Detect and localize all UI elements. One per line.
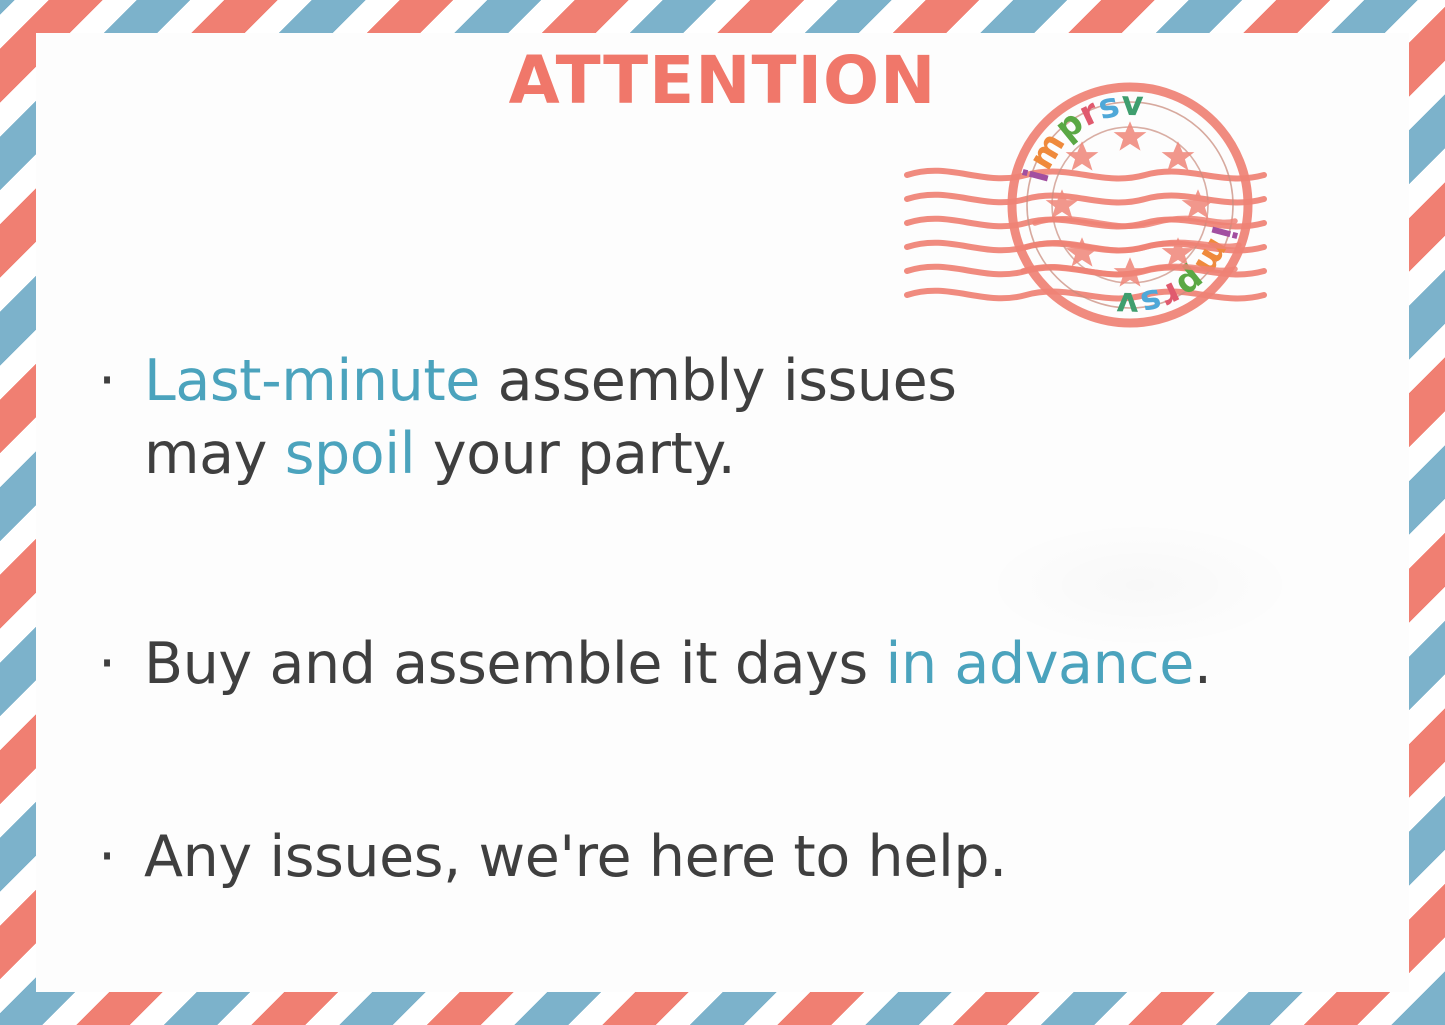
bullet-marker: · [98, 821, 116, 894]
highlight-phrase: in advance [886, 631, 1194, 697]
highlight-phrase: Last-minute [144, 348, 480, 414]
list-gap [96, 701, 1396, 821]
airmail-notice-card: ATTENTION [0, 0, 1445, 1025]
plain-phrase: assembly issues [480, 348, 957, 414]
bullet-list: · Last-minute assembly issuesmay spoil y… [96, 345, 1396, 894]
plain-phrase: Any issues, we're here to help. [144, 824, 1007, 890]
list-item: · Any issues, we're here to help. [96, 821, 1396, 894]
bullet-text: Buy and assemble it days in advance. [96, 628, 1396, 701]
list-item: · Buy and assemble it days in advance. [96, 628, 1396, 701]
plain-phrase: your party. [415, 421, 735, 487]
list-item: · Last-minute assembly issuesmay spoil y… [96, 345, 1396, 491]
bullet-text: Any issues, we're here to help. [96, 821, 1396, 894]
plain-phrase: Buy and assemble it days [144, 631, 886, 697]
plain-phrase: . [1194, 631, 1212, 697]
bullet-text: Last-minute assembly issuesmay spoil you… [96, 345, 1396, 491]
list-gap [96, 491, 1396, 628]
bullet-marker: · [98, 628, 116, 701]
plain-phrase: may [144, 421, 285, 487]
highlight-phrase: spoil [285, 421, 415, 487]
postmark-stamp: imprsv imprsv [895, 75, 1375, 335]
bullet-marker: · [98, 345, 116, 418]
